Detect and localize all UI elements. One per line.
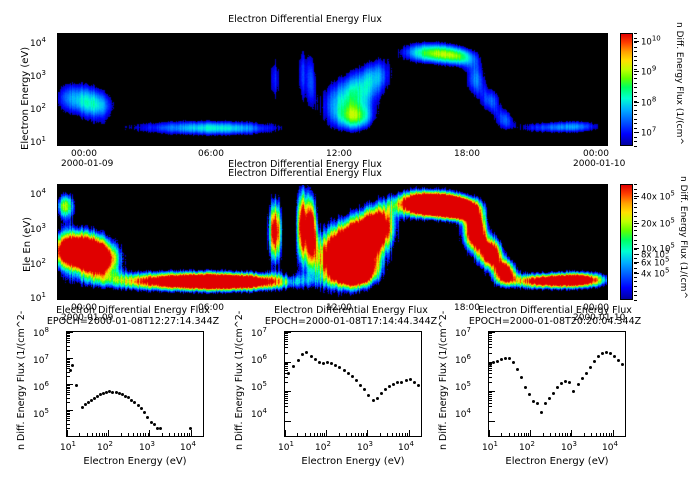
mid-ytick-10e1: 101 [30, 291, 46, 304]
scatter-point [81, 406, 84, 409]
axis-tick [489, 347, 492, 348]
scatter-point [372, 399, 375, 402]
scatter-point [413, 381, 416, 384]
scatter-point [75, 384, 78, 387]
axis-tick [285, 403, 288, 404]
scatter-point [143, 411, 146, 414]
axis-tick [87, 433, 88, 436]
axis-tick [106, 433, 107, 436]
axis-tick [402, 433, 403, 436]
colorbar-minor-tick [634, 295, 637, 296]
colorbar-minor-tick [634, 51, 637, 52]
scatter-point [524, 386, 527, 389]
axis-tick [285, 362, 291, 363]
axis-tick [285, 396, 288, 397]
colorbar-minor-tick [634, 235, 637, 236]
axis-tick [387, 433, 388, 436]
axis-tick [67, 424, 70, 425]
axis-tick [67, 392, 70, 393]
axis-tick [67, 366, 70, 367]
axis-tick [489, 391, 495, 392]
axis-tick [528, 433, 529, 436]
axis-tick [67, 335, 70, 336]
colorbar-minor-tick [634, 137, 637, 138]
bottom-3-ytick-2: 105 [455, 380, 471, 393]
colorbar-tick-label: 20x 105 [641, 216, 675, 229]
axis-tick [67, 390, 70, 391]
colorbar-minor-tick [634, 286, 637, 287]
scatter-point [400, 381, 403, 384]
bottom-1-xtick-3: 104 [180, 440, 196, 453]
axis-tick [613, 430, 614, 436]
colorbar-tick [634, 71, 639, 72]
top-spectrogram-plot[interactable] [57, 33, 608, 146]
colorbar-minor-tick [634, 221, 637, 222]
axis-tick [67, 336, 70, 337]
bottom-panel-3-title: Electron Differential Energy Flux [452, 305, 658, 316]
colorbar-tick-label: 108 [641, 96, 656, 109]
colorbar-minor-tick [634, 83, 637, 84]
scatter-point [536, 402, 539, 405]
colorbar-minor-tick [634, 96, 637, 97]
scatter-point [597, 355, 600, 358]
scatter-point [405, 379, 408, 382]
axis-tick [509, 433, 510, 436]
bottom-3-ytick-0: 107 [455, 326, 471, 339]
axis-tick [67, 428, 70, 429]
scatter-point [528, 393, 531, 396]
axis-tick [489, 333, 492, 334]
scatter-point [292, 365, 295, 368]
axis-tick [322, 433, 323, 436]
colorbar-minor-tick [634, 189, 637, 190]
scatter-point [560, 382, 563, 385]
scatter-point [69, 369, 72, 372]
axis-tick [96, 433, 97, 436]
bottom-panel-1-xlabel: Electron Energy (eV) [55, 456, 215, 467]
axis-tick [518, 433, 519, 436]
axis-tick [489, 403, 492, 404]
axis-tick [567, 433, 568, 436]
colorbar-minor-tick [634, 114, 637, 115]
scatter-point [137, 404, 140, 407]
axis-tick [137, 433, 138, 436]
scatter-point [189, 427, 192, 430]
axis-tick [149, 430, 150, 436]
axis-tick [121, 433, 122, 436]
colorbar-minor-tick [634, 65, 637, 66]
axis-tick [521, 433, 522, 436]
axis-tick [543, 433, 544, 436]
bottom-2-xtick-1: 102 [315, 440, 331, 453]
axis-tick [285, 363, 288, 364]
bottom-1-xtick-1: 102 [97, 440, 113, 453]
axis-tick [600, 433, 601, 436]
axis-tick [489, 392, 492, 393]
colorbar-minor-tick [634, 226, 637, 227]
axis-tick [285, 400, 288, 401]
axis-tick [102, 433, 103, 436]
axis-tick [67, 387, 70, 388]
axis-tick [530, 430, 531, 436]
axis-tick [285, 391, 291, 392]
axis-tick [67, 418, 70, 419]
scatter-point [322, 362, 325, 365]
top-spectrogram-canvas [58, 34, 607, 145]
axis-tick [396, 433, 397, 436]
colorbar-minor-tick [634, 69, 637, 70]
bottom-panel-3-subtitle: EPOCH=2000-01-08T20:20:04.344Z [452, 316, 658, 327]
scatter-point [301, 353, 304, 356]
axis-tick [625, 433, 626, 436]
bottom-panel-2-plot[interactable] [284, 331, 422, 437]
axis-tick [104, 433, 105, 436]
colorbar-minor-tick [634, 38, 637, 39]
colorbar-minor-tick [634, 258, 637, 259]
bottom-panel-2-ylabel: n Diff. Energy Flux (1/(cm^2- [234, 311, 245, 450]
colorbar-minor-tick [634, 272, 637, 273]
axis-tick [67, 385, 70, 386]
bottom-2-ytick-2: 105 [251, 380, 267, 393]
colorbar-minor-tick [634, 254, 637, 255]
mid-colorbar[interactable] [620, 184, 633, 300]
bottom-panel-2-subtitle: EPOCH=2000-01-08T17:14:44.344Z [248, 316, 454, 327]
scatter-point [297, 359, 300, 362]
bottom-3-xtick-2: 103 [561, 440, 577, 453]
colorbar-minor-tick [634, 105, 637, 106]
axis-tick [285, 412, 288, 413]
colorbar-minor-tick [634, 101, 637, 102]
axis-tick [317, 433, 318, 436]
axis-tick [526, 433, 527, 436]
bottom-1-ytick-3: 105 [33, 407, 49, 420]
colorbar-minor-tick [634, 207, 637, 208]
colorbar-minor-tick [634, 240, 637, 241]
axis-tick [380, 433, 381, 436]
bottom-3-ytick-1: 106 [455, 353, 471, 366]
colorbar-minor-tick [634, 212, 637, 213]
axis-tick [489, 394, 492, 395]
colorbar-minor-tick [634, 60, 637, 61]
scatter-point [310, 355, 313, 358]
scatter-point [330, 362, 333, 365]
axis-tick [285, 344, 288, 345]
axis-tick [67, 342, 70, 343]
axis-tick [67, 413, 70, 414]
axis-tick [108, 430, 109, 436]
top-xtick-1800: 18:00 [454, 149, 480, 159]
axis-tick [285, 421, 291, 422]
scatter-point [111, 391, 114, 394]
axis-tick [187, 433, 188, 436]
axis-tick [67, 359, 70, 360]
colorbar-tick-label: 107 [641, 126, 656, 139]
scatter-point [516, 368, 519, 371]
colorbar-minor-tick [634, 33, 637, 34]
axis-tick [409, 430, 410, 436]
axis-tick [181, 433, 182, 436]
axis-tick [67, 358, 73, 359]
axis-tick [355, 433, 356, 436]
bottom-panel-3-plot[interactable] [488, 331, 626, 437]
axis-tick [489, 337, 492, 338]
scatter-point [552, 392, 555, 395]
axis-tick [363, 433, 364, 436]
axis-tick [178, 433, 179, 436]
colorbar-minor-tick [634, 78, 637, 79]
axis-tick [489, 398, 492, 399]
axis-tick [285, 335, 288, 336]
axis-tick [489, 406, 492, 407]
colorbar-minor-tick [634, 277, 637, 278]
top-xtick-1200: 12:00 [326, 149, 352, 159]
axis-tick [67, 410, 73, 411]
axis-tick [67, 414, 70, 415]
axis-tick [140, 433, 141, 436]
axis-tick [489, 366, 492, 367]
mid-colorbar-label: n Diff. Energy Flux (1/(cm^ [678, 176, 688, 299]
axis-tick [421, 433, 422, 436]
axis-tick [285, 370, 288, 371]
axis-tick [489, 373, 492, 374]
axis-tick [489, 377, 492, 378]
axis-tick [67, 398, 70, 399]
colorbar-minor-tick [634, 281, 637, 282]
axis-tick [351, 433, 352, 436]
axis-tick [67, 332, 73, 333]
bottom-1-xtick-0: 101 [60, 440, 76, 453]
axis-tick [148, 433, 149, 436]
colorbar-minor-tick [634, 141, 637, 142]
axis-tick [489, 382, 492, 383]
axis-tick [562, 433, 563, 436]
scatter-point [376, 397, 379, 400]
axis-tick [366, 433, 367, 436]
colorbar-minor-tick [634, 47, 637, 48]
scatter-point [417, 384, 420, 387]
axis-tick [67, 361, 70, 362]
bottom-2-xtick-3: 104 [398, 440, 414, 453]
bottom-3-xtick-0: 101 [482, 440, 498, 453]
colorbar-tick-label: 109 [641, 65, 656, 78]
scatter-point [351, 375, 354, 378]
axis-tick [361, 433, 362, 436]
axis-tick [79, 433, 80, 436]
axis-tick [67, 346, 70, 347]
axis-tick [606, 433, 607, 436]
scatter-point [512, 361, 515, 364]
colorbar-minor-tick [634, 146, 637, 147]
axis-tick [501, 433, 502, 436]
bottom-2-ytick-3: 104 [251, 407, 267, 420]
axis-tick [203, 433, 204, 436]
mid-spectrogram-canvas [58, 185, 607, 299]
scatter-point [605, 351, 608, 354]
axis-tick [297, 433, 298, 436]
axis-tick [67, 333, 70, 334]
scatter-point [581, 377, 584, 380]
scatter-point [409, 378, 412, 381]
axis-tick [565, 433, 566, 436]
axis-tick [489, 344, 492, 345]
colorbar-minor-tick [634, 300, 637, 301]
scatter-point [133, 401, 136, 404]
axis-tick [67, 436, 73, 437]
bottom-1-ytick-2: 106 [33, 380, 49, 393]
axis-tick [489, 368, 492, 369]
axis-tick [405, 433, 406, 436]
colorbar-minor-tick [634, 74, 637, 75]
bottom-panel-1-subtitle: EPOCH=2000-01-08T12:27:14.344Z [30, 316, 236, 327]
top-colorbar[interactable] [620, 33, 633, 146]
axis-tick [128, 433, 129, 436]
axis-tick [285, 398, 288, 399]
colorbar-minor-tick [634, 291, 637, 292]
scatter-point [556, 386, 559, 389]
top-ytick-10e3: 103 [30, 69, 46, 82]
axis-tick [285, 377, 288, 378]
axis-tick [367, 430, 368, 436]
axis-tick [67, 364, 70, 365]
colorbar-tick [634, 196, 639, 197]
axis-tick [489, 339, 492, 340]
axis-tick [489, 400, 492, 401]
bottom-panel-2-xlabel: Electron Energy (eV) [273, 456, 433, 467]
scatter-point [363, 388, 366, 391]
axis-tick [67, 416, 70, 417]
axis-tick [67, 420, 70, 421]
scatter-point [287, 372, 290, 375]
scatter-point [564, 380, 567, 383]
scatter-point [334, 364, 337, 367]
colorbar-tick [634, 102, 639, 103]
scatter-point [380, 392, 383, 395]
axis-tick [285, 394, 288, 395]
mid-ytick-10e2: 102 [30, 257, 46, 270]
axis-tick [584, 433, 585, 436]
axis-tick [346, 433, 347, 436]
bottom-2-xtick-0: 101 [278, 440, 294, 453]
bottom-1-ytick-0: 108 [33, 326, 49, 339]
scatter-point [140, 407, 143, 410]
scatter-point [367, 394, 370, 397]
colorbar-minor-tick [634, 230, 637, 231]
colorbar-minor-tick [634, 128, 637, 129]
bottom-3-ytick-3: 104 [455, 407, 471, 420]
scatter-point [577, 383, 580, 386]
axis-tick [305, 433, 306, 436]
axis-tick [285, 382, 288, 383]
colorbar-minor-tick [634, 263, 637, 264]
scatter-point [326, 361, 329, 364]
axis-tick [285, 353, 288, 354]
colorbar-minor-tick [634, 244, 637, 245]
scatter-point [613, 355, 616, 358]
colorbar-minor-tick [634, 268, 637, 269]
top-colorbar-label: n Diff. Energy Flux (1/(cm^ [674, 22, 684, 145]
axis-tick [392, 433, 393, 436]
axis-tick [591, 433, 592, 436]
axis-tick [555, 433, 556, 436]
colorbar-minor-tick [634, 87, 637, 88]
scatter-point [71, 364, 74, 367]
scatter-point [617, 359, 620, 362]
scatter-point [568, 381, 571, 384]
axis-tick [285, 332, 291, 333]
axis-tick [489, 370, 492, 371]
colorbar-minor-tick [634, 132, 637, 133]
top-xtick-0000-right: 00:00 [583, 149, 609, 159]
bottom-panel-1-plot[interactable] [66, 331, 204, 437]
axis-tick [489, 353, 492, 354]
axis-tick [67, 340, 70, 341]
axis-tick [326, 430, 327, 436]
bottom-3-xtick-3: 104 [602, 440, 618, 453]
axis-tick [67, 376, 70, 377]
bottom-panel-1-ylabel: n Diff. Energy Flux (1/(cm^2- [16, 311, 27, 450]
axis-tick [67, 411, 70, 412]
scatter-point [548, 397, 551, 400]
scatter-point [540, 411, 543, 414]
axis-tick [143, 433, 144, 436]
scatter-point [314, 358, 317, 361]
scatter-point [589, 366, 592, 369]
axis-tick [145, 433, 146, 436]
scatter-point [359, 384, 362, 387]
scatter-point [621, 363, 624, 366]
colorbar-minor-tick [634, 110, 637, 111]
bottom-panel-3-ylabel: n Diff. Energy Flux (1/(cm^2- [438, 311, 449, 450]
axis-tick [162, 433, 163, 436]
axis-tick [133, 433, 134, 436]
scatter-point [593, 360, 596, 363]
axis-tick [67, 394, 70, 395]
axis-tick [603, 433, 604, 436]
scatter-point [347, 372, 350, 375]
axis-tick [67, 388, 70, 389]
axis-tick [489, 341, 492, 342]
colorbar-minor-tick [634, 92, 637, 93]
axis-tick [174, 433, 175, 436]
colorbar-tick-label: 40x 105 [641, 189, 675, 202]
colorbar-minor-tick [634, 198, 637, 199]
scatter-point [343, 369, 346, 372]
colorbar-tick-label: 1010 [641, 34, 661, 47]
scatter-point [338, 366, 341, 369]
colorbar-minor-tick [634, 216, 637, 217]
axis-tick [489, 335, 492, 336]
axis-tick [314, 433, 315, 436]
scatter-point [572, 390, 575, 393]
scatter-point [384, 388, 387, 391]
axis-tick [524, 433, 525, 436]
scatter-point [153, 423, 156, 426]
scatter-point [601, 352, 604, 355]
bottom-3-xtick-1: 102 [519, 440, 535, 453]
axis-tick [67, 350, 70, 351]
scatter-point [146, 416, 149, 419]
axis-tick [399, 433, 400, 436]
top-ytick-10e1: 101 [30, 135, 46, 148]
axis-tick [320, 433, 321, 436]
colorbar-minor-tick [634, 56, 637, 57]
scatter-point [492, 361, 495, 364]
colorbar-tick-label: 4x 105 [641, 266, 669, 279]
axis-tick [550, 433, 551, 436]
axis-tick [67, 338, 70, 339]
mid-spectrogram-plot[interactable] [57, 184, 608, 300]
axis-tick [514, 433, 515, 436]
